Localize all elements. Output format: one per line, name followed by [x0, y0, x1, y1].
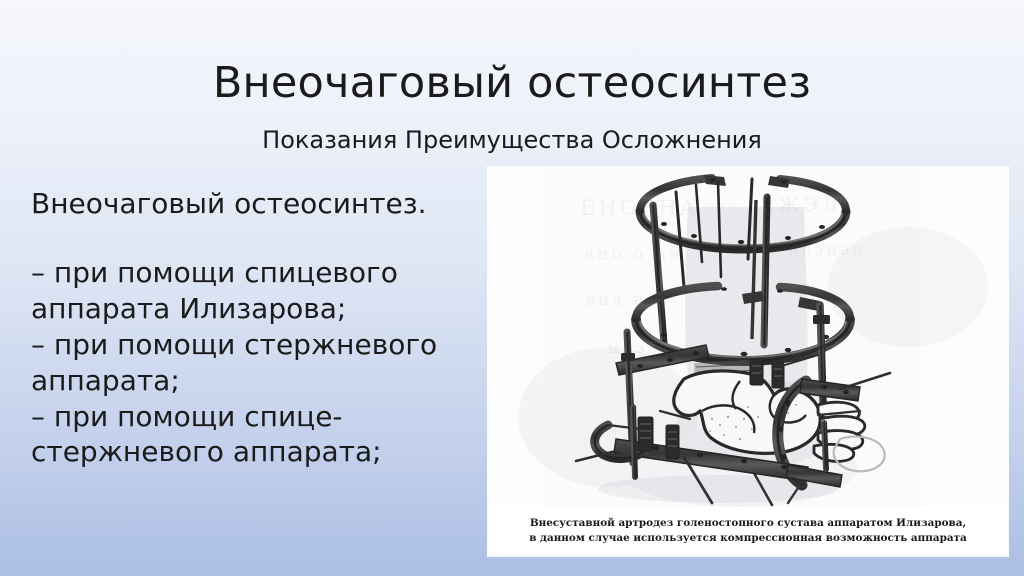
figure-caption: Внесуставной артродез голеностопного сус…: [488, 516, 1008, 546]
svg-text:ано о ни: ано о ни: [584, 244, 683, 264]
page-title: Внеочаговый остеосинтез: [0, 59, 1024, 107]
slide-subtitle: Показания Преимущества Осложнения: [0, 126, 1024, 155]
figure-caption-line-1: Внесуставной артродез голеностопного сус…: [494, 516, 1002, 531]
list-item: – при помощи стержневого аппарата;: [31, 327, 486, 399]
figure-panel: ЕНОВНА ЖЭЛ ано о ни ноэнаи вил н е ынэж …: [488, 167, 1008, 556]
ilizarov-apparatus-icon: ЕНОВНА ЖЭЛ ано о ни ноэнаи вил н е ынэж …: [488, 167, 1008, 507]
list-item: – при помощи спице-стержневого аппарата;: [31, 399, 486, 471]
content-text-block: Внеочаговый остеосинтез. – при помощи сп…: [31, 186, 486, 470]
presentation-slide: Внеочаговый остеосинтез Показания Преиму…: [0, 0, 1024, 576]
content-bullet-list: – при помощи спицевого аппарата Илизаров…: [31, 255, 486, 470]
content-lead-line: Внеочаговый остеосинтез.: [31, 186, 486, 221]
list-item: – при помощи спицевого аппарата Илизаров…: [31, 255, 486, 327]
figure-caption-line-2: в данном случае используется компрессион…: [494, 531, 1002, 546]
